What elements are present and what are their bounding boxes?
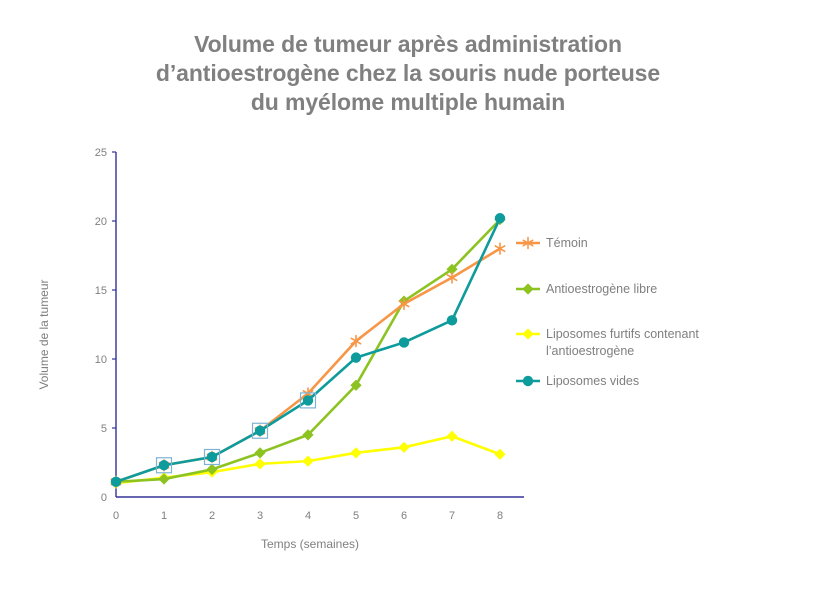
legend-label: l’antioestrogène <box>546 344 634 358</box>
x-axis-tick-label: 6 <box>401 510 407 522</box>
series-line <box>116 249 500 482</box>
legend-label: Antioestrogène libre <box>546 282 657 296</box>
legend-marker-icon[interactable] <box>522 328 533 339</box>
x-axis-tick-label: 2 <box>209 510 215 522</box>
series-1[interactable] <box>111 243 504 487</box>
data-point[interactable] <box>350 447 361 458</box>
data-point[interactable] <box>351 352 361 362</box>
data-point[interactable] <box>255 426 265 436</box>
data-point[interactable] <box>254 458 265 469</box>
data-point[interactable] <box>399 337 409 347</box>
data-point[interactable] <box>207 452 217 462</box>
data-point[interactable] <box>447 315 457 325</box>
y-axis-tick-label: 20 <box>95 216 107 228</box>
y-axis-tick-label: 25 <box>95 147 107 159</box>
x-axis-tick-label: 7 <box>449 510 455 522</box>
legend-label: Liposomes furtifs contenant <box>546 327 699 341</box>
x-axis-tick-label: 4 <box>305 510 311 522</box>
y-axis-tick-label: 10 <box>95 354 107 366</box>
data-point[interactable] <box>254 447 265 458</box>
x-axis-tick-label: 1 <box>161 510 167 522</box>
data-point[interactable] <box>398 442 409 453</box>
series-line <box>116 218 500 482</box>
series-2[interactable] <box>110 214 505 487</box>
y-axis-tick-label: 0 <box>101 492 107 504</box>
x-axis-tick-label: 3 <box>257 510 263 522</box>
y-axis-tick-label: 15 <box>95 285 107 297</box>
legend-marker-icon[interactable] <box>522 283 533 294</box>
x-axis-tick-label: 0 <box>113 510 119 522</box>
legend-label: Liposomes vides <box>546 374 639 388</box>
series-line <box>116 220 500 482</box>
legend-item-4[interactable]: Liposomes vides <box>516 374 639 388</box>
series-4[interactable] <box>111 213 505 487</box>
legend-label: Témoin <box>546 236 588 250</box>
data-point[interactable] <box>447 272 456 283</box>
data-point[interactable] <box>159 460 169 470</box>
legend-item-3[interactable]: Liposomes furtifs contenantl’antioestrog… <box>516 327 699 358</box>
data-point[interactable] <box>495 213 505 223</box>
data-point[interactable] <box>111 477 121 487</box>
x-axis-tick-label: 5 <box>353 510 359 522</box>
data-point[interactable] <box>302 456 313 467</box>
x-axis-title: Temps (semaines) <box>261 537 359 551</box>
data-point[interactable] <box>158 473 169 484</box>
data-point[interactable] <box>495 243 504 254</box>
data-point[interactable] <box>494 449 505 460</box>
slide-canvas: Volume de tumeur après administration d’… <box>0 0 817 611</box>
legend-item-1[interactable]: Témoin <box>516 236 588 250</box>
line-chart[interactable]: 0510152025012345678Temps (semaines)Volum… <box>0 0 817 611</box>
data-point[interactable] <box>303 395 313 405</box>
data-point[interactable] <box>446 431 457 442</box>
legend-item-2[interactable]: Antioestrogène libre <box>516 282 657 296</box>
y-axis-tick-label: 5 <box>101 423 107 435</box>
x-axis-tick-label: 8 <box>497 510 503 522</box>
legend-marker-icon[interactable] <box>523 376 533 386</box>
y-axis-title: Volume de la tumeur <box>37 279 51 389</box>
